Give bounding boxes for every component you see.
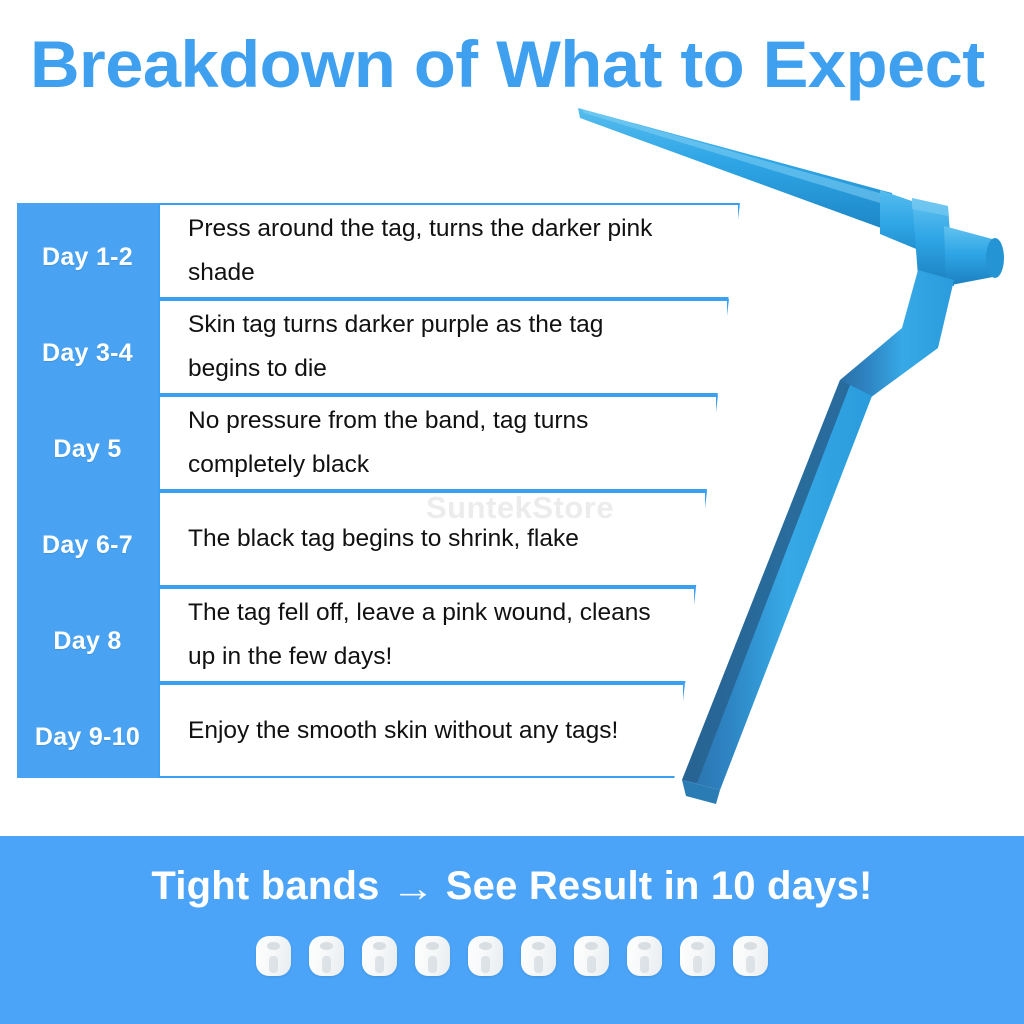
- applicator-flange-edge: [912, 198, 948, 216]
- day-label: Day 8: [17, 627, 158, 656]
- day-description-cell: The tag fell off, leave a pink wound, cl…: [158, 587, 696, 683]
- table-row: Day 1-2 Press around the tag, turns the …: [17, 203, 737, 299]
- day-label: Day 3-4: [17, 339, 158, 368]
- rubber-band-icon: [415, 936, 450, 976]
- rubber-band-icon: [468, 936, 503, 976]
- applicator-handle-tip: [682, 780, 720, 804]
- day-label: Day 6-7: [17, 531, 158, 560]
- day-description-text: Enjoy the smooth skin without any tags!: [188, 709, 658, 753]
- rubber-band-icon: [521, 936, 556, 976]
- applicator-hub-cap: [986, 238, 1004, 278]
- applicator-cone-highlight: [582, 109, 890, 206]
- page-title: Breakdown of What to Expect: [30, 28, 1024, 100]
- rubber-band-icon: [733, 936, 768, 976]
- table-row: Day 5 No pressure from the band, tag tur…: [17, 395, 737, 491]
- banner-headline-before: Tight bands: [151, 864, 379, 908]
- day-label: Day 5: [17, 435, 158, 464]
- day-label: Day 9-10: [17, 723, 158, 752]
- table-row: Day 8 The tag fell off, leave a pink wou…: [17, 587, 737, 683]
- banner-headline-after: See Result in 10 days!: [446, 864, 873, 908]
- day-description-text: The tag fell off, leave a pink wound, cl…: [188, 591, 658, 679]
- table-row: Day 9-10 Enjoy the smooth skin without a…: [17, 683, 737, 778]
- day-description-cell: Enjoy the smooth skin without any tags!: [158, 683, 685, 778]
- applicator-elbow: [840, 270, 954, 398]
- rubber-band-icon: [680, 936, 715, 976]
- day-description-cell: Press around the tag, turns the darker p…: [158, 203, 740, 299]
- rubber-band-icon: [309, 936, 344, 976]
- day-description-text: No pressure from the band, tag turns com…: [188, 399, 658, 487]
- day-description-text: Press around the tag, turns the darker p…: [188, 207, 658, 295]
- right-arrow-icon: →: [391, 868, 435, 911]
- expectation-schedule-table: Day 1-2 Press around the tag, turns the …: [17, 203, 737, 778]
- rubber-band-icon: [362, 936, 397, 976]
- day-description-text: Skin tag turns darker purple as the tag …: [188, 303, 658, 391]
- day-label: Day 1-2: [17, 243, 158, 272]
- day-description-cell: No pressure from the band, tag turns com…: [158, 395, 718, 491]
- applicator-barrel: [880, 190, 938, 258]
- rubber-band-icon: [627, 936, 662, 976]
- table-row: Day 6-7 The black tag begins to shrink, …: [17, 491, 737, 587]
- rubber-band-icon: [574, 936, 609, 976]
- banner-headline: Tight bands→See Result in 10 days!: [0, 864, 1024, 909]
- day-description-text: The black tag begins to shrink, flake: [188, 517, 658, 561]
- applicator-hub: [944, 226, 998, 286]
- table-row: Day 3-4 Skin tag turns darker purple as …: [17, 299, 737, 395]
- bottom-promo-banner: Tight bands→See Result in 10 days!: [0, 836, 1024, 1024]
- rubber-band-icon: [256, 936, 291, 976]
- applicator-flange: [912, 198, 954, 286]
- day-description-cell: Skin tag turns darker purple as the tag …: [158, 299, 729, 395]
- infographic-page: Breakdown of What to Expect: [0, 0, 1024, 1024]
- rubber-band-row: [0, 936, 1024, 976]
- day-description-cell: The black tag begins to shrink, flake: [158, 491, 707, 587]
